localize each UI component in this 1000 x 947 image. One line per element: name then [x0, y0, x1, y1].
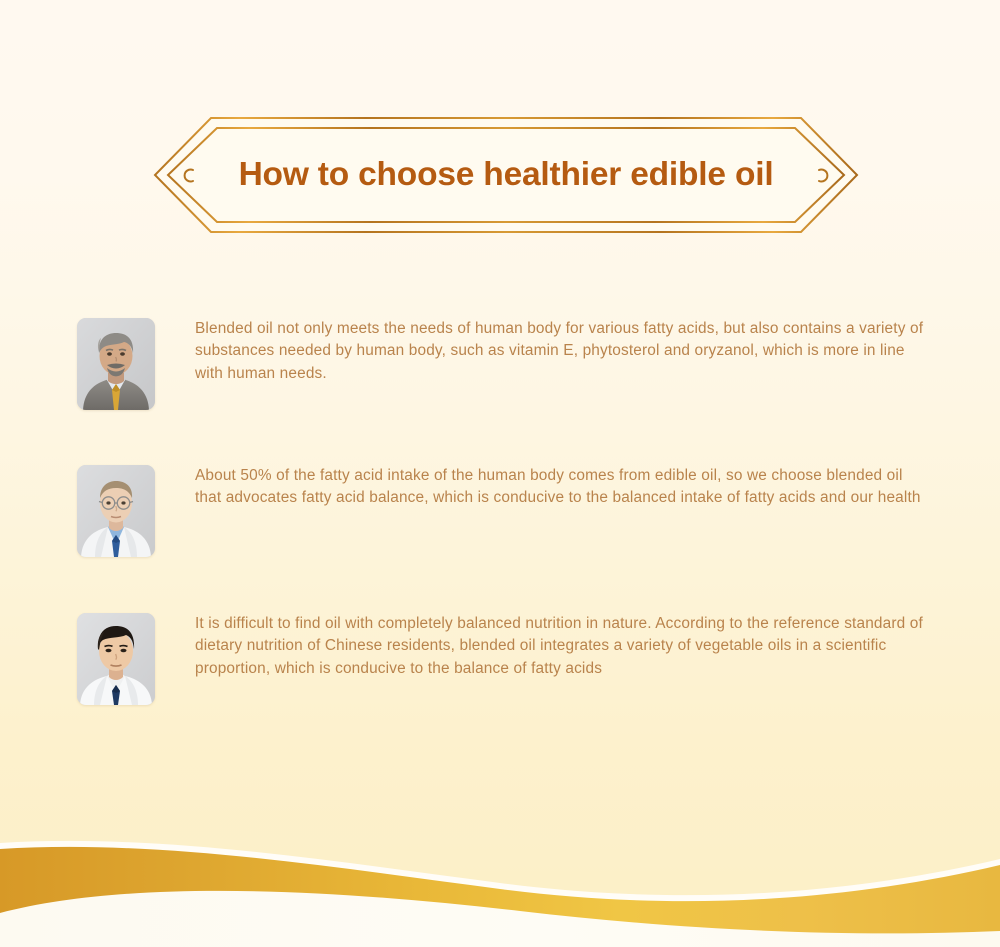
wave-cream-band: [0, 891, 1000, 947]
testimonial-text: About 50% of the fatty acid intake of th…: [195, 465, 928, 510]
expert-portrait-3-icon: [77, 613, 155, 705]
expert-avatar-3: [77, 613, 155, 705]
testimonial-text: Blended oil not only meets the needs of …: [195, 318, 928, 385]
wave-gold-band: [0, 847, 1000, 947]
testimonial-item: Blended oil not only meets the needs of …: [77, 318, 937, 410]
testimonial-item: It is difficult to find oil with complet…: [77, 613, 937, 705]
expert-portrait-2-icon: [77, 465, 155, 557]
bottom-wave-decoration: [0, 827, 1000, 947]
testimonial-text: It is difficult to find oil with complet…: [195, 613, 928, 680]
wave-svg: [0, 827, 1000, 947]
expert-avatar-2: [77, 465, 155, 557]
page-title: How to choose healthier edible oil: [153, 117, 859, 233]
title-banner: How to choose healthier edible oil: [153, 117, 859, 233]
expert-avatar-1: [77, 318, 155, 410]
expert-portrait-1-icon: [77, 318, 155, 410]
wave-highlight-band: [0, 841, 1000, 947]
testimonial-item: About 50% of the fatty acid intake of th…: [77, 465, 937, 557]
